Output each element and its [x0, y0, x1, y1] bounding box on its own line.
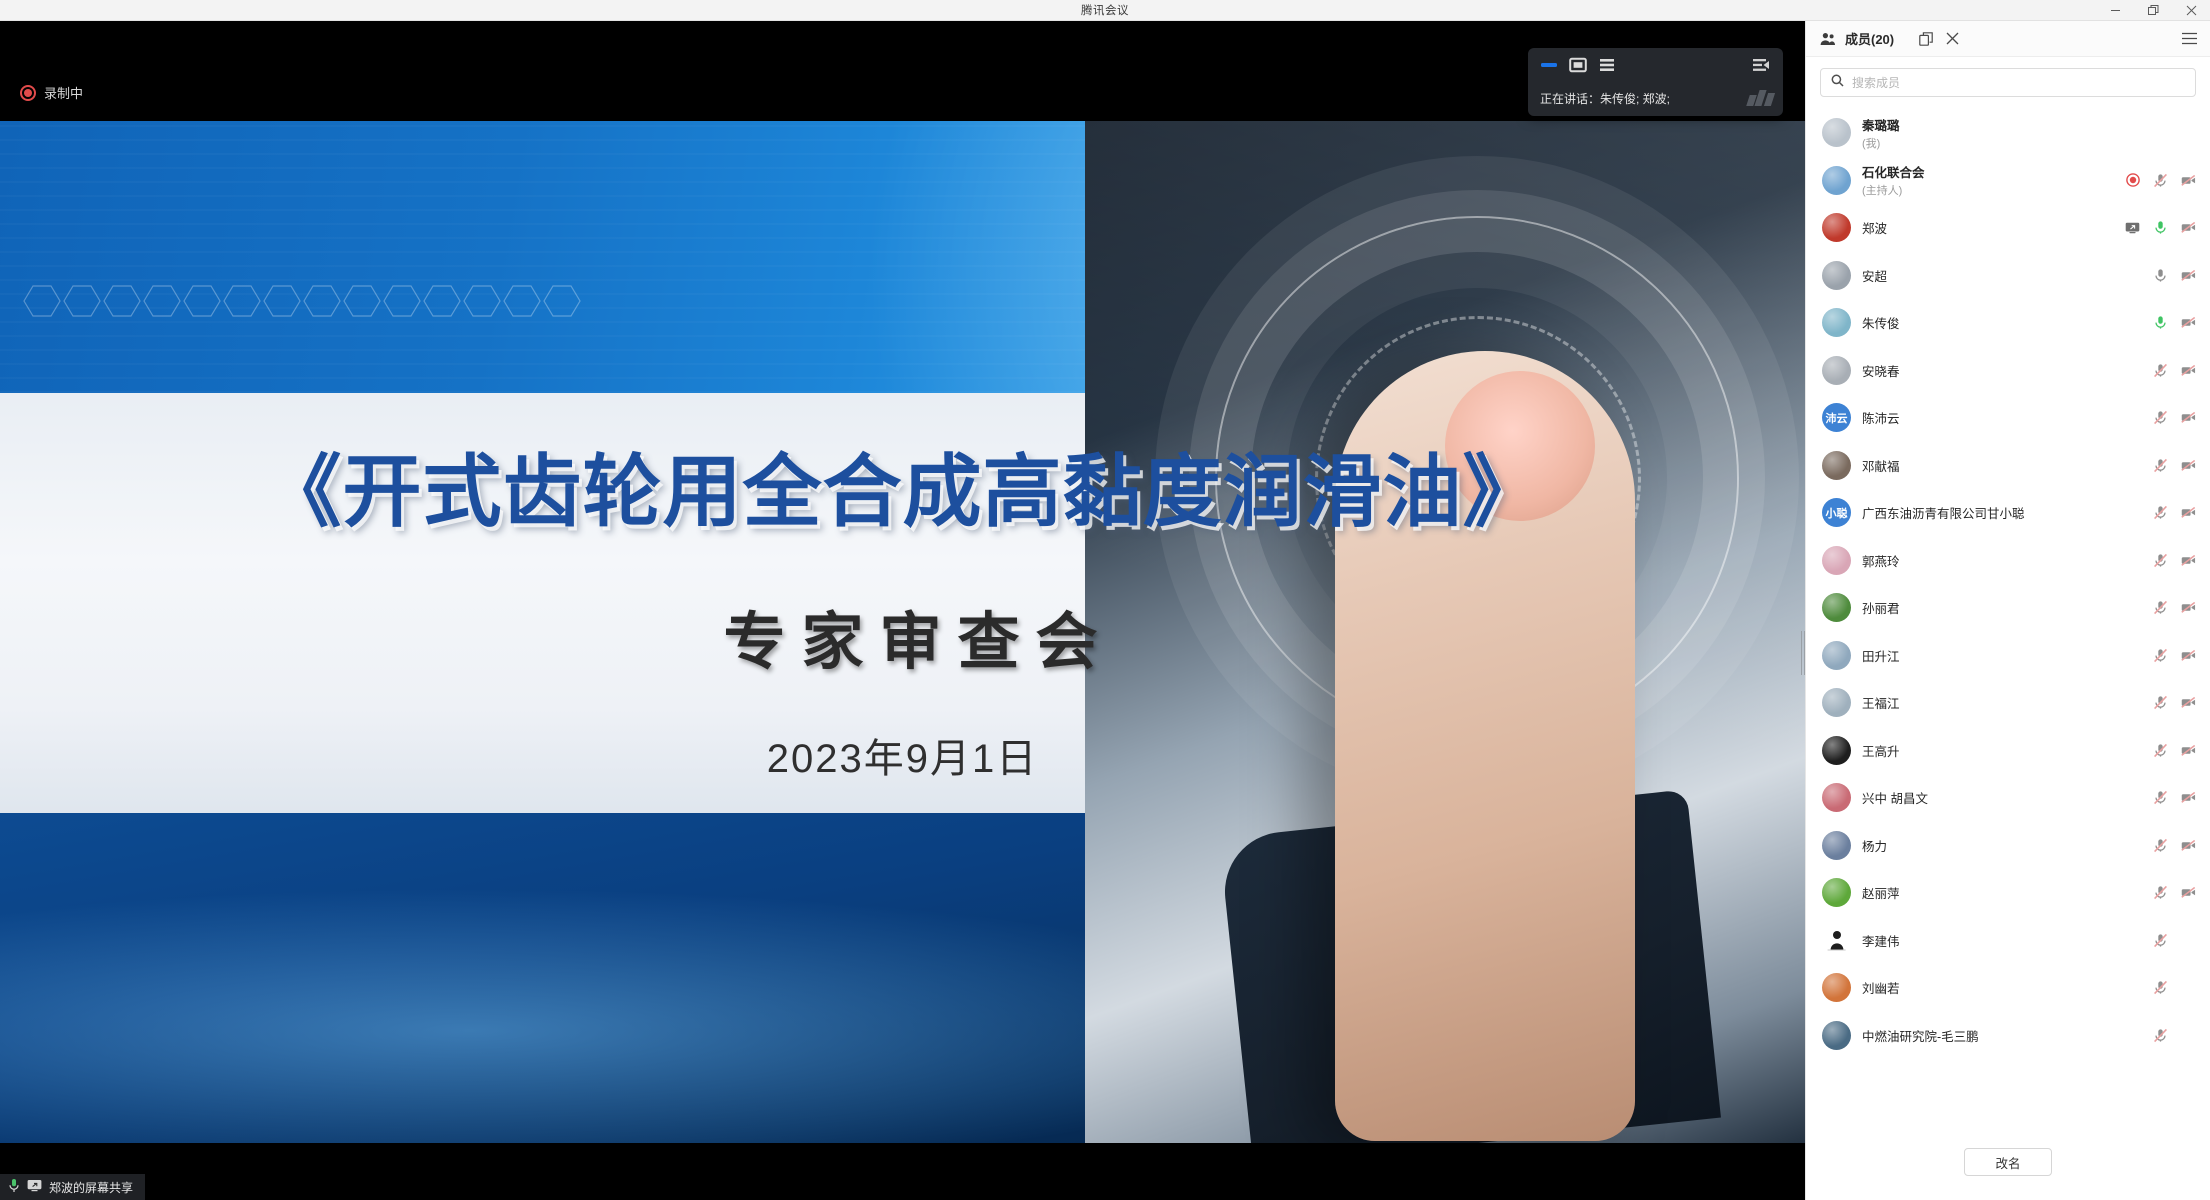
- participant-name: 中燃油研究院-毛三鹏: [1862, 1026, 2114, 1045]
- layout-icon-group: [1540, 57, 1616, 73]
- participant-row[interactable]: 朱传俊: [1806, 299, 2210, 347]
- participant-row[interactable]: 安超: [1806, 252, 2210, 300]
- participant-row[interactable]: 小聪广西东油沥青有限公司甘小聪: [1806, 489, 2210, 537]
- screen-share-owner-label: 郑波的屏幕共享: [49, 1179, 133, 1196]
- participant-row[interactable]: 孙丽君: [1806, 584, 2210, 632]
- search-box[interactable]: [1820, 68, 2196, 97]
- hex-pattern-decoration: [20, 271, 660, 331]
- participant-row[interactable]: 邓献福: [1806, 442, 2210, 490]
- participant-name-block: 王高升: [1862, 741, 2114, 760]
- participant-row[interactable]: 兴中 胡昌文: [1806, 774, 2210, 822]
- camera-status-icon[interactable]: [2181, 648, 2196, 663]
- camera-status-icon[interactable]: [2181, 553, 2196, 568]
- microphone-icon[interactable]: [8, 1178, 20, 1196]
- participant-name: 田升江: [1862, 646, 2114, 665]
- close-panel-icon[interactable]: [1946, 32, 1959, 45]
- participants-panel-footer: 改名: [1806, 1124, 2210, 1200]
- participant-status-icons: [2125, 458, 2196, 473]
- microphone-status-icon[interactable]: [2153, 220, 2168, 235]
- camera-status-icon[interactable]: [2181, 838, 2196, 853]
- microphone-status-icon[interactable]: [2153, 743, 2168, 758]
- extra-status-icon: [2125, 695, 2140, 710]
- avatar: [1822, 546, 1851, 575]
- camera-status-icon: [2181, 125, 2196, 140]
- extra-status-icon: [2125, 600, 2140, 615]
- participant-role-tag: (我): [1862, 135, 2114, 151]
- avatar: [1822, 783, 1851, 812]
- extra-status-icon: [2125, 505, 2140, 520]
- microphone-status-icon[interactable]: [2153, 980, 2168, 995]
- participant-name: 杨力: [1862, 836, 2114, 855]
- minimize-button[interactable]: [2096, 0, 2134, 21]
- participant-status-icons: [2125, 600, 2196, 615]
- people-icon: [1820, 32, 1836, 46]
- microphone-status-icon[interactable]: [2153, 1028, 2168, 1043]
- participant-name-block: 孙丽君: [1862, 598, 2114, 617]
- avatar: [1822, 118, 1851, 147]
- participants-count-label: 成员(20): [1845, 29, 1894, 48]
- microphone-status-icon[interactable]: [2153, 315, 2168, 330]
- participant-row[interactable]: 石化联合会(主持人): [1806, 157, 2210, 205]
- window-title: 腾讯会议: [1081, 2, 1129, 18]
- extra-status-icon: [2125, 268, 2140, 283]
- extra-status-icon: [2125, 458, 2140, 473]
- avatar: [1822, 1021, 1851, 1050]
- participant-name: 安晓春: [1862, 361, 2114, 380]
- participant-name-block: 广西东油沥青有限公司甘小聪: [1862, 503, 2114, 522]
- screen-share-icon[interactable]: [27, 1179, 42, 1195]
- participants-list[interactable]: 秦璐璐(我)石化联合会(主持人) 郑波 安超: [1806, 109, 2210, 1124]
- participant-name: 陈沛云: [1862, 408, 2114, 427]
- participant-name: 邓献福: [1862, 456, 2114, 475]
- extra-status-icon: [2125, 980, 2140, 995]
- participant-name: 朱传俊: [1862, 313, 2114, 332]
- participant-name: 李建伟: [1862, 931, 2114, 950]
- extra-status-icon: [2125, 648, 2140, 663]
- participant-name: 王福江: [1862, 693, 2114, 712]
- extra-status-icon: [2125, 838, 2140, 853]
- window-controls: [2096, 0, 2210, 21]
- participant-name: 石化联合会: [1862, 162, 2114, 181]
- participant-status-icons: [2125, 1028, 2196, 1043]
- extra-status-icon: [2125, 743, 2140, 758]
- participant-name-block: 中燃油研究院-毛三鹏: [1862, 1026, 2114, 1045]
- camera-status-icon: [2181, 933, 2196, 948]
- extra-status-icon: [2125, 410, 2140, 425]
- avatar: [1822, 878, 1851, 907]
- recording-indicator: 录制中: [20, 83, 83, 102]
- microphone-status-icon: [2153, 125, 2168, 140]
- participant-name-block: 赵丽萍: [1862, 883, 2114, 902]
- participant-name-block: 朱传俊: [1862, 313, 2114, 332]
- participant-row[interactable]: 李建伟: [1806, 917, 2210, 965]
- collapse-panel-icon[interactable]: [1752, 57, 1771, 73]
- extra-status-icon: [2125, 1028, 2140, 1043]
- recording-label: 录制中: [44, 83, 83, 102]
- participant-status-icons: [2125, 933, 2196, 948]
- participant-name-block: 安晓春: [1862, 361, 2114, 380]
- layout-toolbar-row: [1528, 48, 1783, 81]
- participant-status-icons: [2125, 220, 2196, 235]
- speaking-status-text: 正在讲话：朱传俊; 郑波;: [1540, 90, 1670, 107]
- participant-name: 刘幽若: [1862, 978, 2114, 997]
- recording-dot-icon: [20, 85, 36, 101]
- camera-status-icon: [2181, 1028, 2196, 1043]
- participant-row[interactable]: 秦璐璐(我): [1806, 109, 2210, 157]
- camera-status-icon[interactable]: [2181, 268, 2196, 283]
- microphone-status-icon[interactable]: [2153, 838, 2168, 853]
- participant-name: 孙丽君: [1862, 598, 2114, 617]
- camera-status-icon[interactable]: [2181, 695, 2196, 710]
- participant-status-icons: [2125, 125, 2196, 140]
- avatar: [1822, 356, 1851, 385]
- extra-status-icon: [2125, 790, 2140, 805]
- microphone-status-icon[interactable]: [2153, 885, 2168, 900]
- camera-status-icon[interactable]: [2181, 315, 2196, 330]
- audio-wave-icon: [1748, 90, 1773, 106]
- extra-status-icon[interactable]: [2125, 220, 2140, 235]
- extra-status-icon: [2125, 125, 2140, 140]
- camera-status-icon[interactable]: [2181, 410, 2196, 425]
- participant-name: 郑波: [1862, 218, 2114, 237]
- avatar: [1822, 926, 1851, 955]
- participant-name: 安超: [1862, 266, 2114, 285]
- microphone-status-icon[interactable]: [2153, 410, 2168, 425]
- camera-status-icon[interactable]: [2181, 220, 2196, 235]
- participant-status-icons: [2125, 553, 2196, 568]
- microphone-status-icon[interactable]: [2153, 505, 2168, 520]
- microphone-status-icon[interactable]: [2153, 790, 2168, 805]
- participant-name-block: 杨力: [1862, 836, 2114, 855]
- microphone-status-icon[interactable]: [2153, 363, 2168, 378]
- microphone-status-icon[interactable]: [2153, 458, 2168, 473]
- layout-window-icon[interactable]: [1569, 57, 1587, 73]
- participant-status-icons: [2125, 648, 2196, 663]
- extra-status-icon: [2125, 933, 2140, 948]
- participant-name-block: 邓献福: [1862, 456, 2114, 475]
- maximize-button[interactable]: [2134, 0, 2172, 21]
- extra-status-icon: [2125, 315, 2140, 330]
- participant-name: 王高升: [1862, 741, 2114, 760]
- participant-name-block: 秦璐璐(我): [1862, 115, 2114, 151]
- participant-name-block: 安超: [1862, 266, 2114, 285]
- extra-status-icon: [2125, 553, 2140, 568]
- layout-speaker-icon[interactable]: [1540, 58, 1558, 72]
- avatar: [1822, 736, 1851, 765]
- participant-status-icons: [2125, 980, 2196, 995]
- popout-window-icon[interactable]: [1919, 32, 1933, 46]
- speaking-status-row: 正在讲话：朱传俊; 郑波;: [1528, 81, 1783, 116]
- participant-name: 赵丽萍: [1862, 883, 2114, 902]
- camera-status-icon[interactable]: [2181, 885, 2196, 900]
- participant-status-icons: [2125, 268, 2196, 283]
- floating-layout-toolbar[interactable]: 正在讲话：朱传俊; 郑波;: [1528, 48, 1783, 116]
- camera-status-icon[interactable]: [2181, 743, 2196, 758]
- participant-name-block: 郑波: [1862, 218, 2114, 237]
- participant-name-block: 田升江: [1862, 646, 2114, 665]
- avatar: [1822, 213, 1851, 242]
- extra-status-icon: [2125, 363, 2140, 378]
- participant-row[interactable]: 安晓春: [1806, 347, 2210, 395]
- participant-name-block: 兴中 胡昌文: [1862, 788, 2114, 807]
- participant-status-icons: [2125, 315, 2196, 330]
- participant-row[interactable]: 田升江: [1806, 632, 2210, 680]
- camera-status-icon[interactable]: [2181, 363, 2196, 378]
- microphone-status-icon[interactable]: [2153, 553, 2168, 568]
- camera-status-icon[interactable]: [2181, 505, 2196, 520]
- microphone-status-icon[interactable]: [2153, 268, 2168, 283]
- avatar: [1822, 593, 1851, 622]
- participant-row[interactable]: 王福江: [1806, 679, 2210, 727]
- participant-name: 广西东油沥青有限公司甘小聪: [1862, 503, 2114, 522]
- participant-status-icons: [2125, 885, 2196, 900]
- shared-slide: 《开式齿轮用全合成高黏度润滑油》 专家审查会 2023年9月1日: [0, 121, 1805, 1143]
- camera-status-icon: [2181, 980, 2196, 995]
- participant-row[interactable]: 郭燕玲: [1806, 537, 2210, 585]
- extra-status-icon: [2125, 885, 2140, 900]
- close-button[interactable]: [2172, 0, 2210, 21]
- slide-date: 2023年9月1日: [0, 726, 1805, 784]
- participant-name: 秦璐璐: [1862, 115, 2114, 134]
- participant-status-icons: [2125, 790, 2196, 805]
- camera-status-icon[interactable]: [2181, 790, 2196, 805]
- participants-panel: 成员(20) 秦璐璐(我)石化联合会(主持人): [1805, 21, 2210, 1200]
- avatar: [1822, 166, 1851, 195]
- participant-name: 郭燕玲: [1862, 551, 2114, 570]
- microphone-status-icon[interactable]: [2153, 695, 2168, 710]
- participant-name-block: 王福江: [1862, 693, 2114, 712]
- participant-name-block: 刘幽若: [1862, 978, 2114, 997]
- layout-grid-icon[interactable]: [1598, 57, 1616, 73]
- avatar: [1822, 451, 1851, 480]
- camera-status-icon[interactable]: [2181, 173, 2196, 188]
- camera-status-icon[interactable]: [2181, 458, 2196, 473]
- participant-status-icons: [2125, 743, 2196, 758]
- rename-button[interactable]: 改名: [1964, 1148, 2052, 1176]
- avatar: [1822, 831, 1851, 860]
- microphone-status-icon[interactable]: [2153, 173, 2168, 188]
- search-area: [1806, 57, 2210, 106]
- camera-status-icon[interactable]: [2181, 600, 2196, 615]
- participant-name-block: 郭燕玲: [1862, 551, 2114, 570]
- extra-status-icon[interactable]: [2125, 173, 2140, 188]
- participant-name-block: 李建伟: [1862, 931, 2114, 950]
- participant-status-icons: [2125, 363, 2196, 378]
- screen-share-status-bar: 郑波的屏幕共享: [0, 1174, 145, 1200]
- avatar: [1822, 973, 1851, 1002]
- microphone-status-icon[interactable]: [2153, 648, 2168, 663]
- participant-row[interactable]: 杨力: [1806, 822, 2210, 870]
- participant-status-icons: [2125, 695, 2196, 710]
- participant-role-tag: (主持人): [1862, 182, 2114, 198]
- avatar: [1822, 641, 1851, 670]
- search-icon: [1831, 74, 1844, 92]
- avatar: 小聪: [1822, 498, 1851, 527]
- participant-row[interactable]: 赵丽萍: [1806, 869, 2210, 917]
- shared-screen-stage[interactable]: 录制中: [0, 21, 1805, 1200]
- participant-row[interactable]: 刘幽若: [1806, 964, 2210, 1012]
- participant-status-icons: [2125, 410, 2196, 425]
- hamburger-menu-icon[interactable]: [2181, 32, 2198, 45]
- slide-title: 《开式齿轮用全合成高黏度润滑油》: [0, 453, 1805, 532]
- participant-name-block: 石化联合会(主持人): [1862, 162, 2114, 198]
- participant-name-block: 陈沛云: [1862, 408, 2114, 427]
- participant-row[interactable]: 中燃油研究院-毛三鹏: [1806, 1012, 2210, 1060]
- window-titlebar: 腾讯会议: [0, 0, 2210, 21]
- avatar: [1822, 308, 1851, 337]
- microphone-status-icon[interactable]: [2153, 933, 2168, 948]
- participants-panel-header: 成员(20): [1806, 21, 2210, 57]
- search-input[interactable]: [1852, 76, 2185, 90]
- participant-name: 兴中 胡昌文: [1862, 788, 2114, 807]
- slide-subtitle-text: 专家审查会: [707, 591, 1113, 681]
- participant-status-icons: [2125, 173, 2196, 188]
- microphone-status-icon[interactable]: [2153, 600, 2168, 615]
- participant-row[interactable]: 郑波: [1806, 204, 2210, 252]
- avatar: [1822, 261, 1851, 290]
- avatar: 沛云: [1822, 403, 1851, 432]
- slide-subtitle: 专家审查会: [0, 591, 1805, 681]
- participant-row[interactable]: 沛云陈沛云: [1806, 394, 2210, 442]
- avatar: [1822, 688, 1851, 717]
- participant-status-icons: [2125, 838, 2196, 853]
- participant-row[interactable]: 王高升: [1806, 727, 2210, 775]
- slide-title-text: 《开式齿轮用全合成高黏度润滑油》: [263, 453, 1543, 532]
- participant-status-icons: [2125, 505, 2196, 520]
- slide-date-text: 2023年9月1日: [767, 726, 1038, 784]
